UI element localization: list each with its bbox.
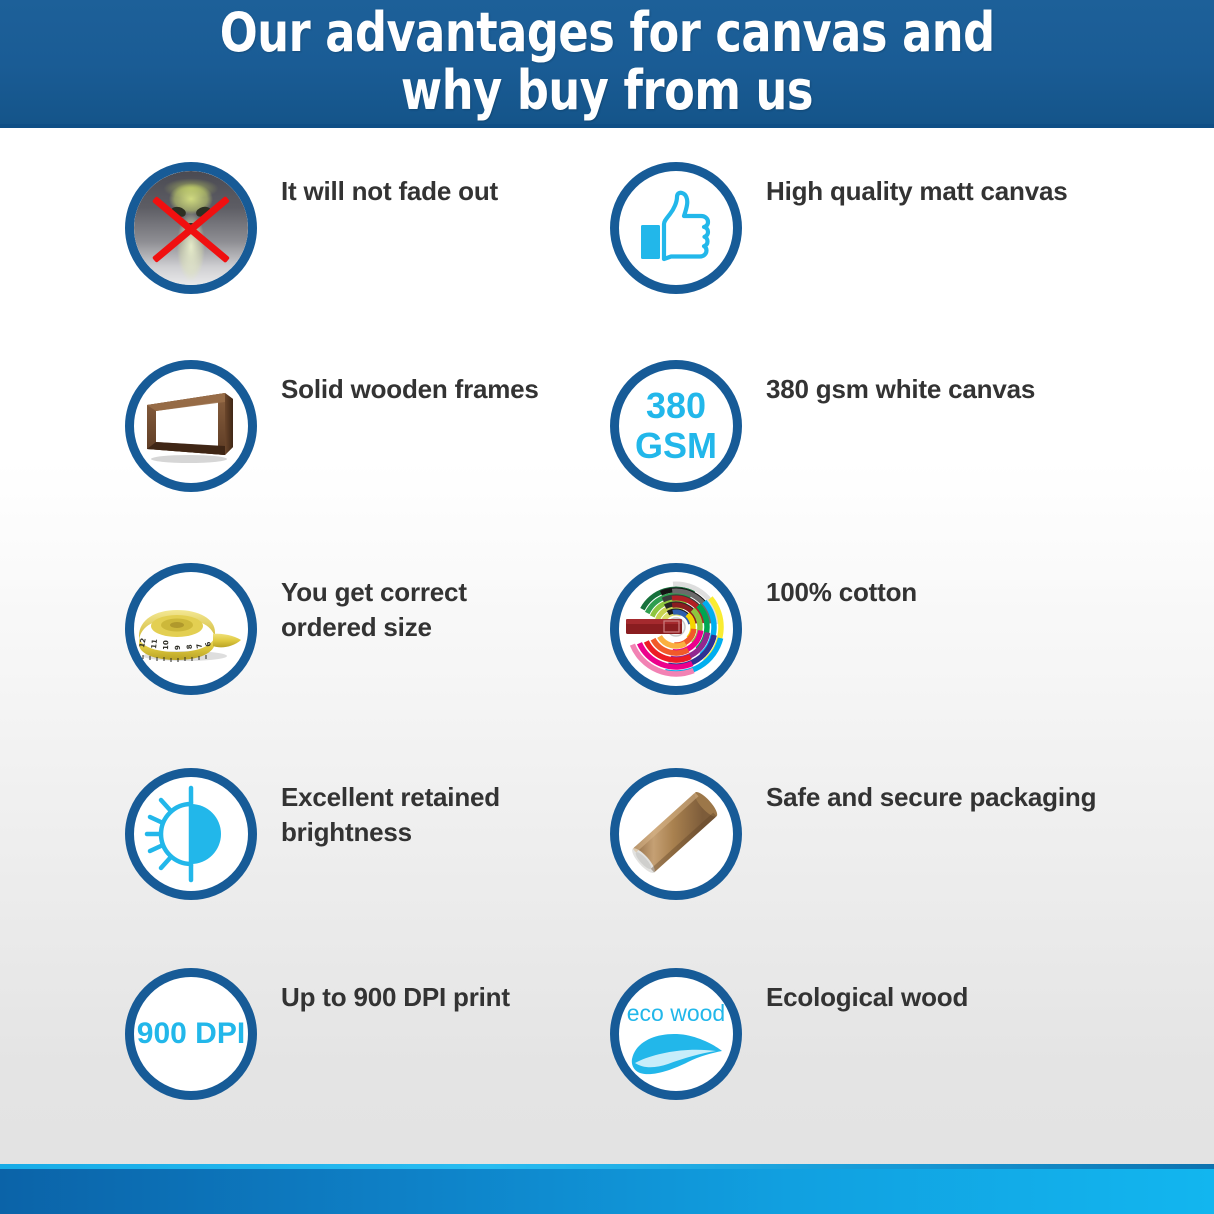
feature-item-cotton: 100% cotton <box>610 563 917 695</box>
feature-item-matt-canvas: High quality matt canvas <box>610 162 1068 294</box>
fan-handle <box>626 619 682 634</box>
red-cross-icon <box>134 171 248 285</box>
measuring-tape-glyph: 12 11 10 9 8 7 6 <box>137 600 245 662</box>
feature-label: 380 gsm white canvas <box>766 360 1035 407</box>
svg-text:7: 7 <box>195 643 204 649</box>
page-title-line-2: why buy from us <box>401 62 813 120</box>
gsm-badge-text: 380 GSM <box>619 386 733 466</box>
feature-label: Excellent retained brightness <box>281 768 500 850</box>
svg-text:11: 11 <box>150 639 159 650</box>
feature-item-no-fade: It will not fade out <box>125 162 498 294</box>
dpi-value: 900 DPI <box>134 1018 248 1050</box>
gsm-unit: GSM <box>619 426 733 466</box>
feature-item-brightness: Excellent retained brightness <box>125 768 500 900</box>
feature-item-gsm: 380 GSM 380 gsm white canvas <box>610 360 1035 492</box>
svg-text:9: 9 <box>174 645 182 650</box>
dpi-badge-text: 900 DPI <box>134 1018 248 1050</box>
brightness-glyph <box>139 782 243 886</box>
feature-label: Safe and secure packaging <box>766 768 1096 815</box>
gsm-text-icon: 380 GSM <box>610 360 742 492</box>
features-grid: It will not fade out High quality matt c… <box>0 128 1214 1158</box>
footer-highlight-stripe <box>0 1164 1214 1169</box>
svg-text:6: 6 <box>204 641 213 648</box>
measuring-tape-icon: 12 11 10 9 8 7 6 <box>125 563 257 695</box>
page-footer <box>0 1164 1214 1214</box>
eco-wood-text-block: eco wood <box>619 1000 733 1026</box>
shipping-tube-icon <box>610 768 742 900</box>
feature-item-dpi: 900 DPI Up to 900 DPI print <box>125 968 510 1100</box>
header-title-block: Our advantages for canvas and why buy fr… <box>0 0 1214 124</box>
wooden-frame-glyph <box>141 389 241 463</box>
feature-label: It will not fade out <box>281 162 498 209</box>
color-fan-glyph <box>624 579 728 683</box>
advantages-infographic: Our advantages for canvas and why buy fr… <box>0 0 1214 1214</box>
svg-text:12: 12 <box>138 638 148 649</box>
feature-item-eco-wood: eco wood Ecological wood <box>610 968 968 1100</box>
feature-label: You get correct ordered size <box>281 563 467 645</box>
page-header: Our advantages for canvas and why buy fr… <box>0 0 1214 128</box>
dpi-text-icon: 900 DPI <box>125 968 257 1100</box>
feature-label: Ecological wood <box>766 968 968 1015</box>
gsm-value: 380 <box>619 386 733 426</box>
thumbs-up-glyph <box>633 185 719 271</box>
svg-text:10: 10 <box>162 640 170 650</box>
eco-wood-label: eco wood <box>619 1000 733 1026</box>
feature-item-wooden-frames: Solid wooden frames <box>125 360 539 492</box>
thumbs-up-icon <box>610 162 742 294</box>
feature-item-correct-size: 12 11 10 9 8 7 6 <box>125 563 467 695</box>
feature-label: High quality matt canvas <box>766 162 1068 209</box>
feature-label: Solid wooden frames <box>281 360 539 407</box>
brightness-icon <box>125 768 257 900</box>
leaf-glyph <box>628 1029 724 1081</box>
wooden-frame-icon <box>125 360 257 492</box>
eco-wood-leaf-icon: eco wood <box>610 968 742 1100</box>
shipping-tube-glyph <box>622 780 730 888</box>
skull-no-fade-icon <box>125 162 257 294</box>
feature-label: Up to 900 DPI print <box>281 968 510 1015</box>
svg-text:8: 8 <box>186 644 194 650</box>
feature-label: 100% cotton <box>766 563 917 610</box>
color-swatch-fan-icon <box>610 563 742 695</box>
page-title-line-1: Our advantages for canvas and <box>220 4 995 62</box>
feature-item-packaging: Safe and secure packaging <box>610 768 1096 900</box>
